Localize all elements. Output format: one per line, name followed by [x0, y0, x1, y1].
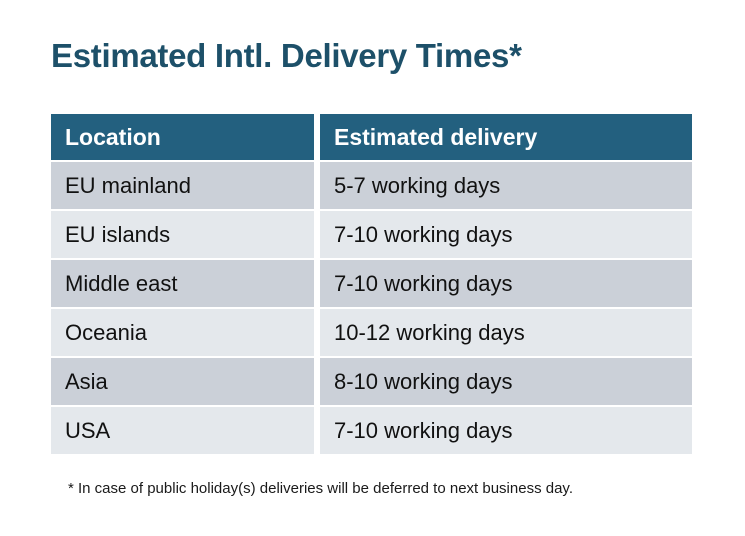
table-row: Oceania 10-12 working days: [51, 309, 692, 356]
page-title: Estimated Intl. Delivery Times*: [51, 36, 522, 76]
cell-estimated-delivery: 7-10 working days: [320, 260, 692, 307]
cell-location: EU islands: [51, 211, 314, 258]
table-header-row: Location Estimated delivery: [51, 114, 692, 160]
table-row: EU islands 7-10 working days: [51, 211, 692, 258]
cell-estimated-delivery: 7-10 working days: [320, 407, 692, 454]
column-header-location: Location: [51, 114, 314, 160]
table-row: USA 7-10 working days: [51, 407, 692, 454]
column-header-estimated-delivery: Estimated delivery: [320, 114, 692, 160]
table-row: Middle east 7-10 working days: [51, 260, 692, 307]
cell-estimated-delivery: 7-10 working days: [320, 211, 692, 258]
table-row: Asia 8-10 working days: [51, 358, 692, 405]
cell-location: Oceania: [51, 309, 314, 356]
cell-estimated-delivery: 5-7 working days: [320, 162, 692, 209]
cell-location: Asia: [51, 358, 314, 405]
cell-location: USA: [51, 407, 314, 454]
footnote-text: * In case of public holiday(s) deliverie…: [68, 479, 573, 499]
cell-estimated-delivery: 8-10 working days: [320, 358, 692, 405]
table-row: EU mainland 5-7 working days: [51, 162, 692, 209]
delivery-times-table: Location Estimated delivery EU mainland …: [51, 114, 692, 454]
cell-location: EU mainland: [51, 162, 314, 209]
cell-estimated-delivery: 10-12 working days: [320, 309, 692, 356]
delivery-times-page: Estimated Intl. Delivery Times* Location…: [0, 0, 745, 536]
cell-location: Middle east: [51, 260, 314, 307]
